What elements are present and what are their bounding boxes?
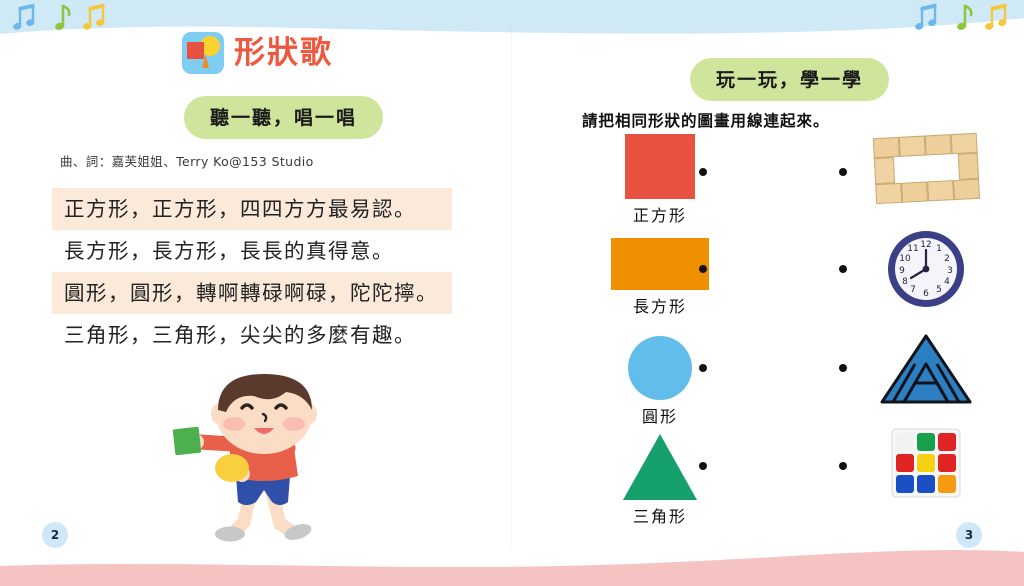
shape-item-rectangle: 長方形 <box>600 238 720 317</box>
red-square-shape <box>625 134 695 199</box>
matching-row: 長方形 1212 345 678 91011 <box>512 230 1024 325</box>
svg-text:11: 11 <box>907 244 918 254</box>
picture-cracker-frame <box>856 130 996 210</box>
left-page: 形狀歌 聽一聽，唱一唱 曲、詞：嘉芙姐姐、Terry Ko@153 Studio… <box>0 0 512 586</box>
blue-circle-shape <box>628 336 692 400</box>
song-credits: 曲、詞：嘉芙姐姐、Terry Ko@153 Studio <box>60 151 314 170</box>
lyrics-block: 正方形，正方形，四四方方最易認。 長方形，長方形，長長的真得意。 圓形，圓形，轉… <box>52 188 452 356</box>
svg-text:1: 1 <box>936 244 942 254</box>
connect-dot-right[interactable] <box>839 265 847 273</box>
picture-rubiks-cube <box>856 428 996 498</box>
page-number-right: 3 <box>956 522 982 548</box>
rubiks-cube-face-icon <box>891 428 961 498</box>
shape-item-circle: 圓形 <box>600 336 720 427</box>
green-triangle-shape <box>623 434 697 500</box>
shapes-app-icon <box>182 32 224 74</box>
connect-dot-left[interactable] <box>699 168 707 176</box>
section-pill-listen: 聽一聽，唱一唱 <box>184 96 383 139</box>
shape-label: 圓形 <box>642 403 678 427</box>
page-number-left: 2 <box>42 522 68 548</box>
svg-text:5: 5 <box>936 285 942 295</box>
connect-dot-left[interactable] <box>699 462 707 470</box>
connect-dot-left[interactable] <box>699 364 707 372</box>
shape-item-square: 正方形 <box>600 134 720 226</box>
lyric-line: 三角形，三角形，尖尖的多麼有趣。 <box>52 314 452 356</box>
orange-rectangle-shape <box>611 238 709 290</box>
matching-row: 正方形 <box>512 130 1024 225</box>
svg-text:8: 8 <box>902 277 908 287</box>
shapes-app-icon-glyphs <box>182 32 224 74</box>
svg-text:6: 6 <box>923 289 929 299</box>
connect-dot-right[interactable] <box>839 168 847 176</box>
picture-pyramid-puzzle <box>856 332 996 406</box>
connect-dot-right[interactable] <box>839 364 847 372</box>
shape-label: 三角形 <box>633 503 687 527</box>
connect-dot-right[interactable] <box>839 462 847 470</box>
matching-row: 圓形 <box>512 330 1024 425</box>
shape-item-triangle: 三角形 <box>600 434 720 527</box>
connect-dot-left[interactable] <box>699 265 707 273</box>
matching-row: 三角形 <box>512 426 1024 521</box>
picture-wall-clock: 1212 345 678 91011 <box>856 226 996 312</box>
svg-text:2: 2 <box>944 254 950 264</box>
lyric-line: 長方形，長方形，長長的真得意。 <box>52 230 452 272</box>
page-title: 形狀歌 <box>234 38 333 69</box>
matching-exercise: 正方形 <box>512 130 1024 530</box>
triangle-pyramid-puzzle-icon <box>878 332 974 406</box>
lyric-line: 正方形，正方形，四四方方最易認。 <box>52 188 452 230</box>
svg-text:7: 7 <box>910 285 916 295</box>
svg-text:4: 4 <box>944 277 950 287</box>
svg-text:10: 10 <box>899 254 911 264</box>
wall-clock-icon: 1212 345 678 91011 <box>883 226 969 312</box>
song-title-row: 形狀歌 <box>182 32 333 74</box>
matching-instruction: 請把相同形狀的圖畫用線連起來。 <box>582 109 830 131</box>
svg-text:9: 9 <box>899 266 905 276</box>
cracker-rectangle-frame-icon <box>867 130 985 210</box>
shape-label: 長方形 <box>633 293 687 317</box>
section-pill-play: 玩一玩，學一學 <box>690 58 889 101</box>
boy-holding-shapes-illustration <box>168 372 358 552</box>
svg-text:3: 3 <box>947 266 953 276</box>
shape-label: 正方形 <box>633 202 687 226</box>
lyric-line: 圓形，圓形，轉啊轉碌啊碌，陀陀擰。 <box>52 272 452 314</box>
svg-text:12: 12 <box>920 240 931 250</box>
